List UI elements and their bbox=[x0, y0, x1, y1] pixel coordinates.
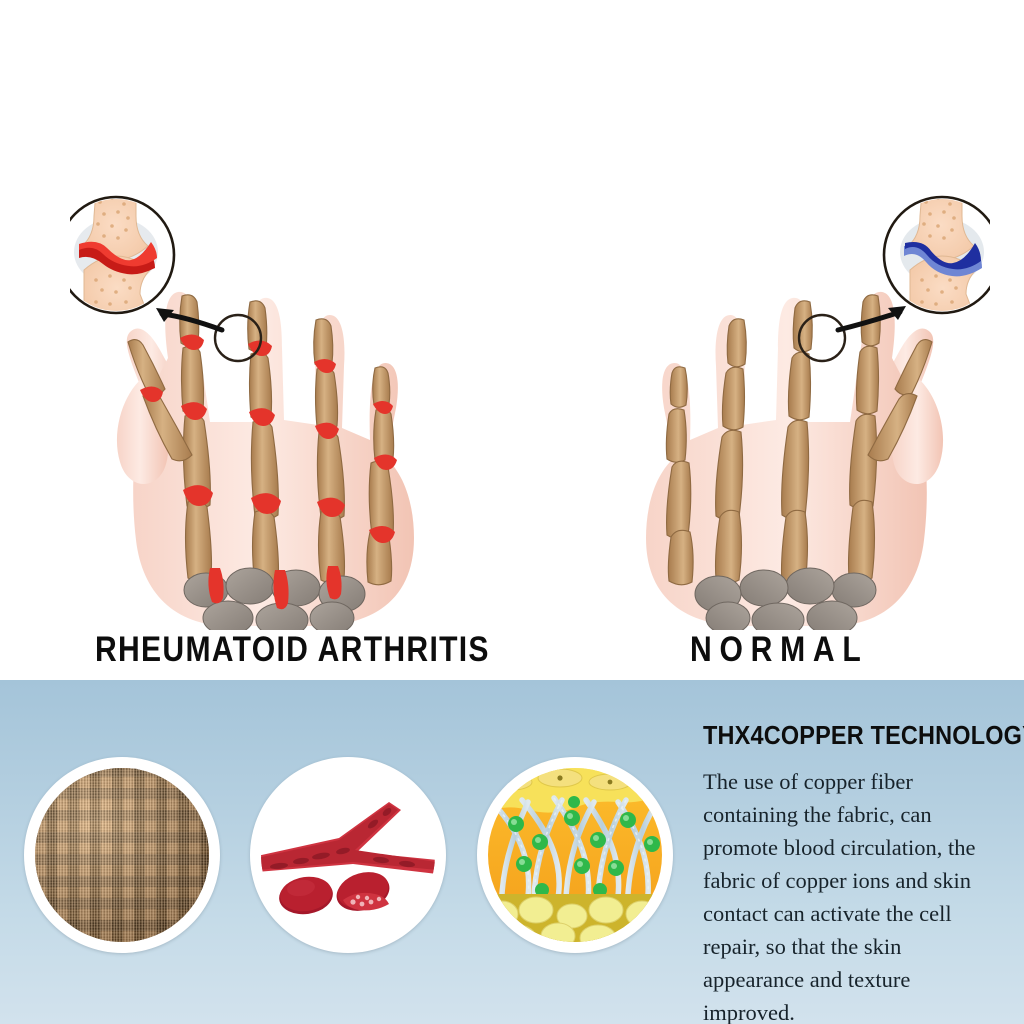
technology-text-block: THX4COPPER TECHNOLOGY The use of copper … bbox=[703, 722, 1024, 1024]
inflamed-joint-inset bbox=[70, 190, 174, 320]
comparison-panel: RHEUMATOID ARTHRITIS NORMAL bbox=[0, 0, 1024, 680]
skin-collagen-illustration bbox=[488, 768, 662, 942]
technology-title: THX4COPPER TECHNOLOGY bbox=[703, 722, 999, 751]
rheumatoid-arthritis-hand-illustration bbox=[70, 190, 470, 630]
copper-fabric-image bbox=[35, 768, 209, 942]
blood-vessel-illustration bbox=[261, 768, 435, 942]
skin-cell-repair-badge bbox=[477, 757, 673, 953]
normal-hand-figure bbox=[590, 190, 990, 630]
blood-vessel-image bbox=[261, 768, 435, 942]
weave-shading bbox=[35, 768, 209, 942]
rheumatoid-arthritis-figure bbox=[70, 190, 470, 630]
normal-hand-illustration bbox=[590, 190, 990, 630]
infographic-page: RHEUMATOID ARTHRITIS NORMAL bbox=[0, 0, 1024, 1024]
caption-normal: NORMAL bbox=[690, 630, 869, 670]
skin-cell-image bbox=[488, 768, 662, 942]
blood-circulation-badge bbox=[250, 757, 446, 953]
caption-rheumatoid-arthritis: RHEUMATOID ARTHRITIS bbox=[95, 630, 490, 670]
technology-description: The use of copper fiber containing the f… bbox=[703, 765, 1003, 1024]
healthy-joint-inset bbox=[884, 190, 990, 320]
copper-fabric-badge bbox=[24, 757, 220, 953]
